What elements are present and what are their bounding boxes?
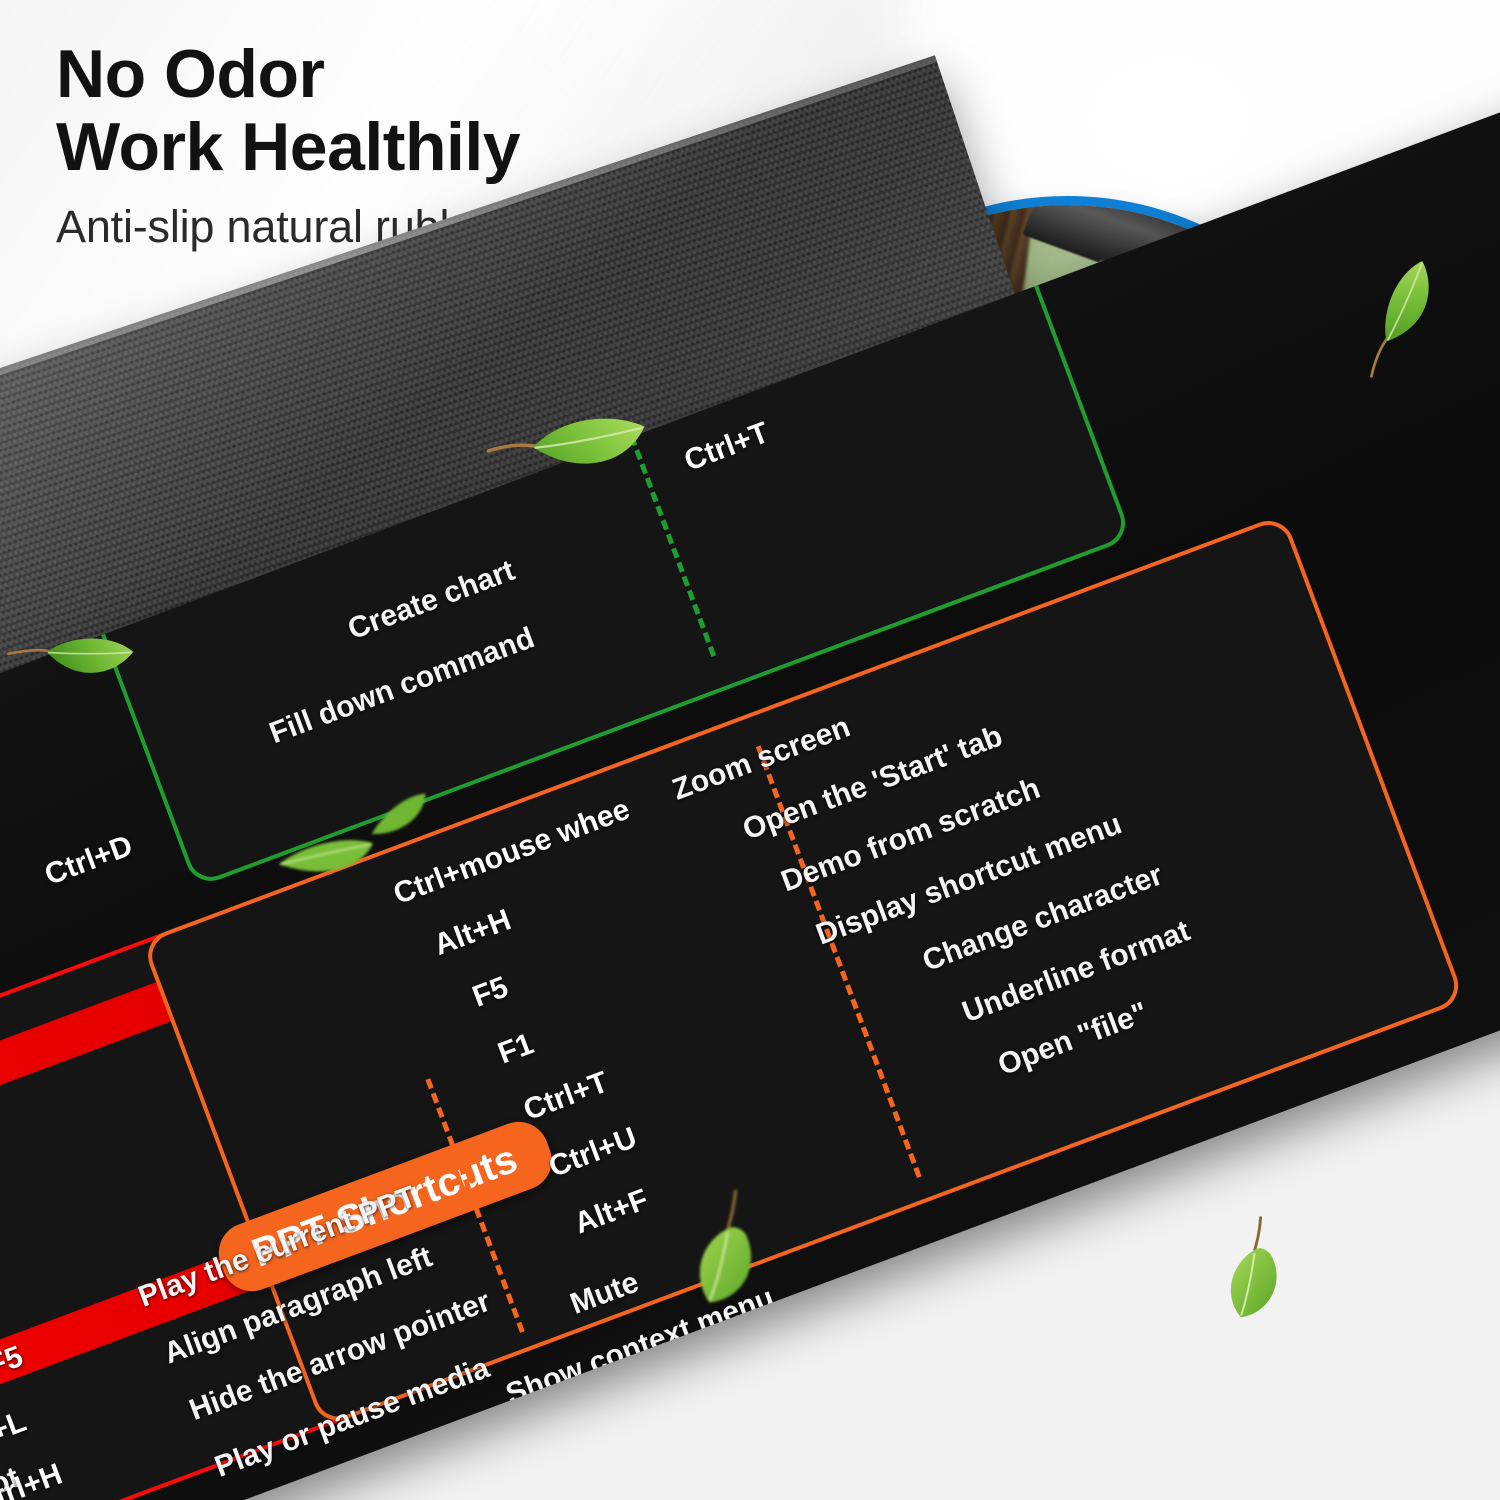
ppt-r-key-2: F5 [468, 971, 512, 1014]
ppt-r-key-3: F1 [494, 1027, 538, 1070]
ppt-r-key-5: Ctrl+U [545, 1121, 642, 1184]
ppt-r-key-6: Alt+F [570, 1183, 653, 1240]
excel-key-2: Ctrl+T [680, 416, 774, 478]
ppt-l-desc-4: Mute [566, 1266, 643, 1321]
excel-desc-4: Fill down command [265, 621, 539, 750]
excel-desc-3: Create chart [344, 554, 520, 646]
product-marketing-image: No Odor Work Healthily Anti-slip natural… [0, 0, 1500, 1500]
ppt-r-key-4: Ctrl+T [519, 1066, 613, 1128]
excel-key-4: Ctrl+D [40, 829, 137, 892]
ppt-r-key-1: Alt+H [430, 903, 516, 962]
